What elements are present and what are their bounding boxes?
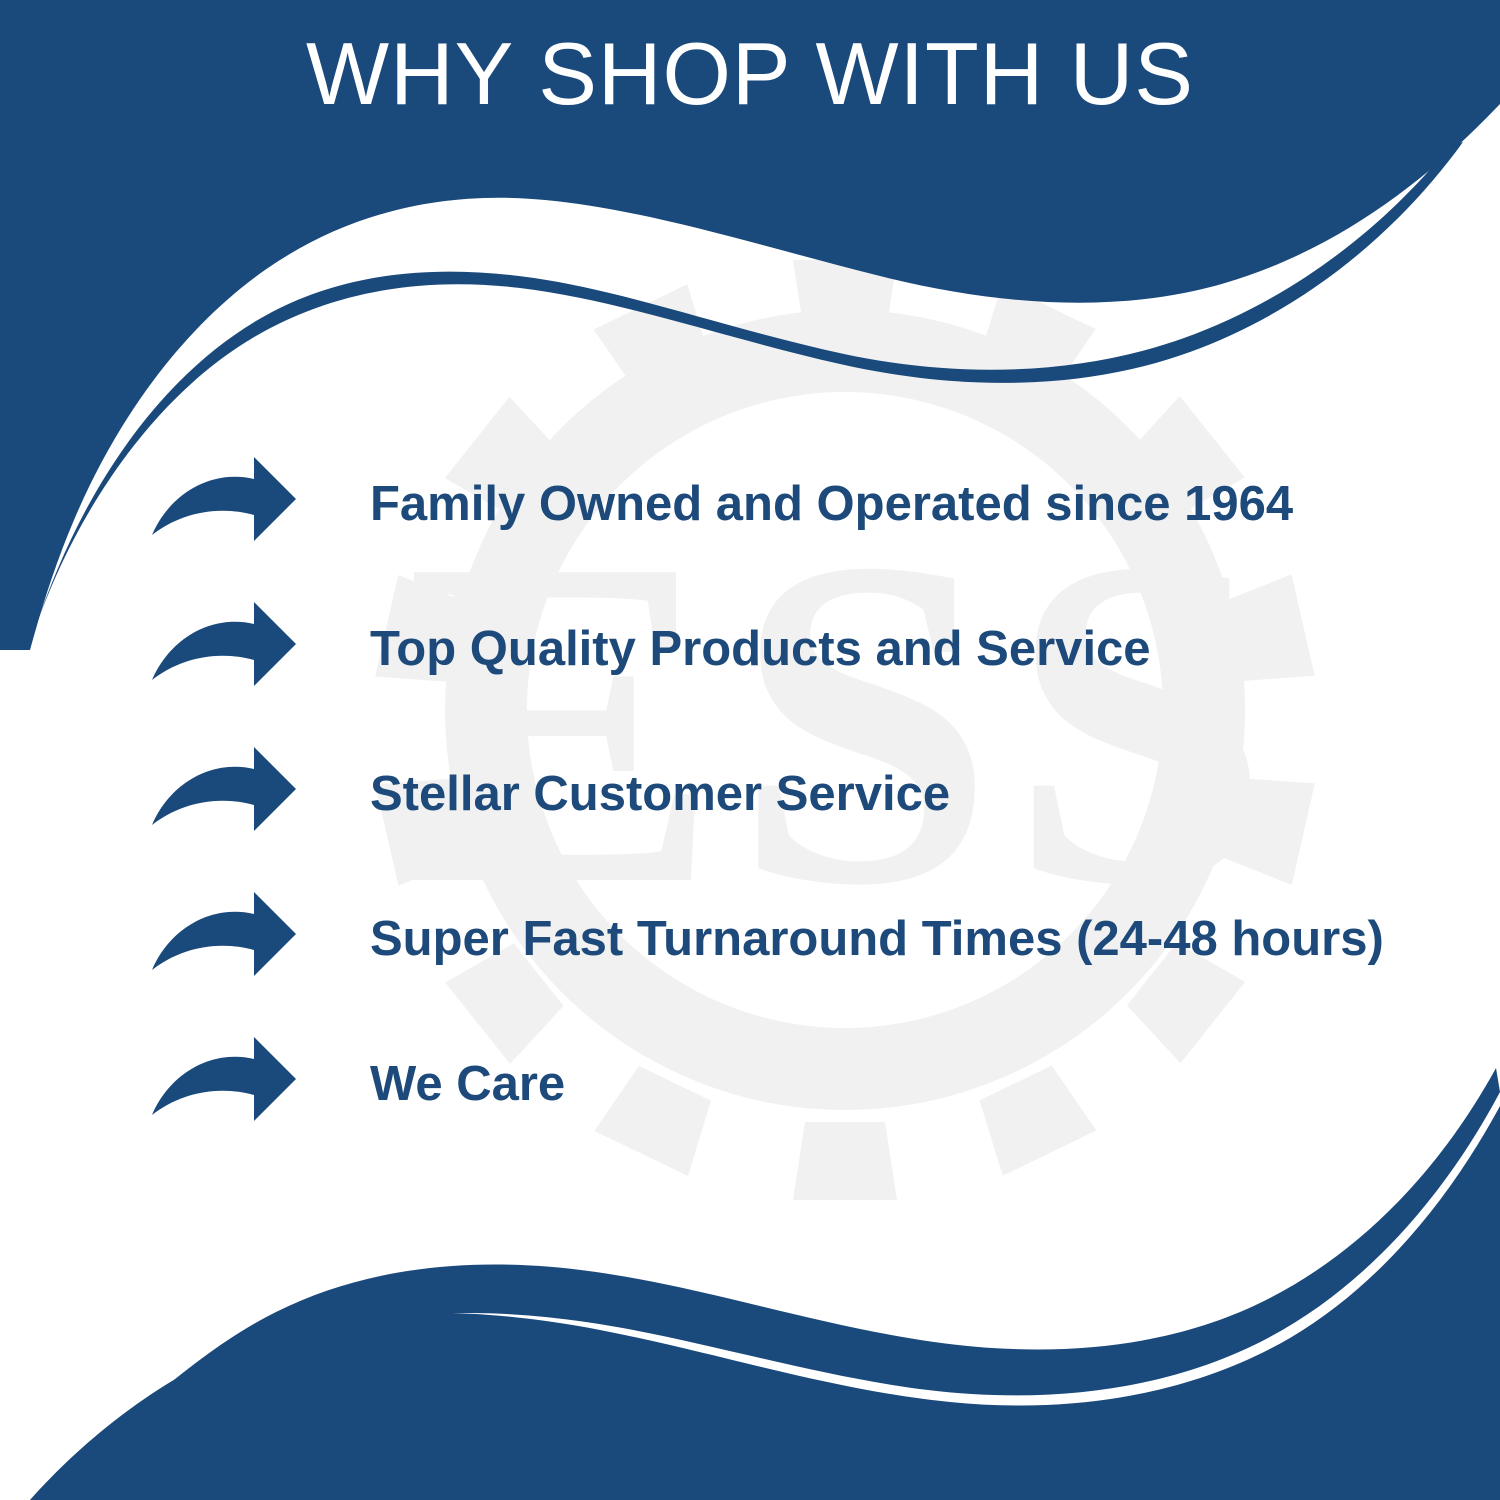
page-title: WHY SHOP WITH US bbox=[0, 30, 1500, 118]
curved-arrow-right-icon bbox=[150, 1037, 298, 1133]
list-item-label: Top Quality Products and Service bbox=[370, 623, 1470, 677]
curved-arrow-right-icon bbox=[150, 602, 298, 698]
promo-graphic: ESS WHY SHOP WITH US Family Owned and Op… bbox=[0, 0, 1500, 1500]
curved-arrow-right-icon bbox=[150, 747, 298, 843]
bottom-wave-shape bbox=[30, 1106, 1500, 1500]
list-item: Stellar Customer Service bbox=[150, 722, 1470, 867]
list-item: We Care bbox=[150, 1012, 1470, 1157]
benefits-list: Family Owned and Operated since 1964 Top… bbox=[150, 432, 1470, 1157]
curved-arrow-right-icon bbox=[150, 457, 298, 553]
list-item: Family Owned and Operated since 1964 bbox=[150, 432, 1470, 577]
list-item-label: Super Fast Turnaround Times (24-48 hours… bbox=[370, 913, 1470, 967]
list-item-label: Stellar Customer Service bbox=[370, 768, 1470, 822]
list-item-label: Family Owned and Operated since 1964 bbox=[370, 478, 1470, 532]
list-item: Top Quality Products and Service bbox=[150, 577, 1470, 722]
list-item: Super Fast Turnaround Times (24-48 hours… bbox=[150, 867, 1470, 1012]
list-item-label: We Care bbox=[370, 1058, 1470, 1112]
curved-arrow-right-icon bbox=[150, 892, 298, 988]
